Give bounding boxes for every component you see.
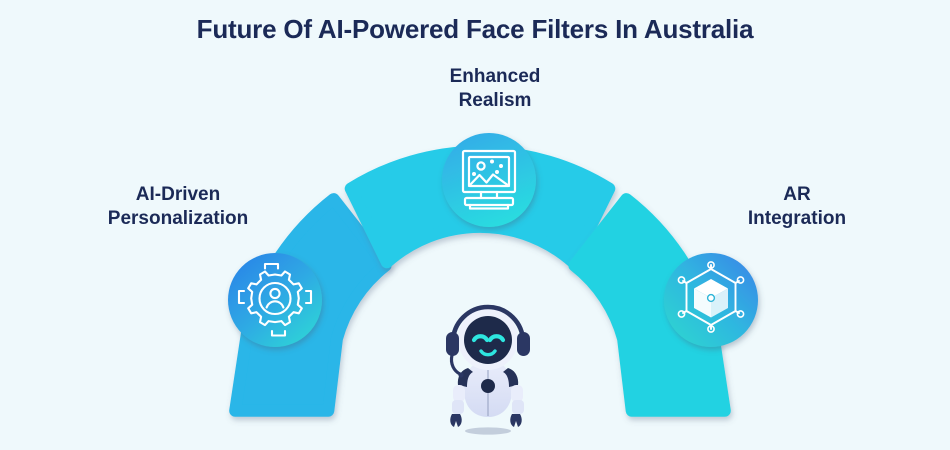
mascot-mic-boom [451,355,460,374]
mascot-right-arm [510,385,524,427]
node-icon-enhanced-realism[interactable] [442,133,536,227]
robot-mascot [432,298,544,440]
infographic-canvas: Future Of AI-Powered Face Filters In Aus… [0,0,950,450]
mascot-right-earcup [517,332,530,356]
node-icon-ai-driven-personalization[interactable] [228,253,322,347]
mascot-left-arm [450,385,465,427]
mascot-shadow [465,427,511,434]
node-icon-ar-integration[interactable] [664,253,758,347]
mascot-chest-button [481,379,495,393]
mascot-left-earcup [446,332,459,356]
